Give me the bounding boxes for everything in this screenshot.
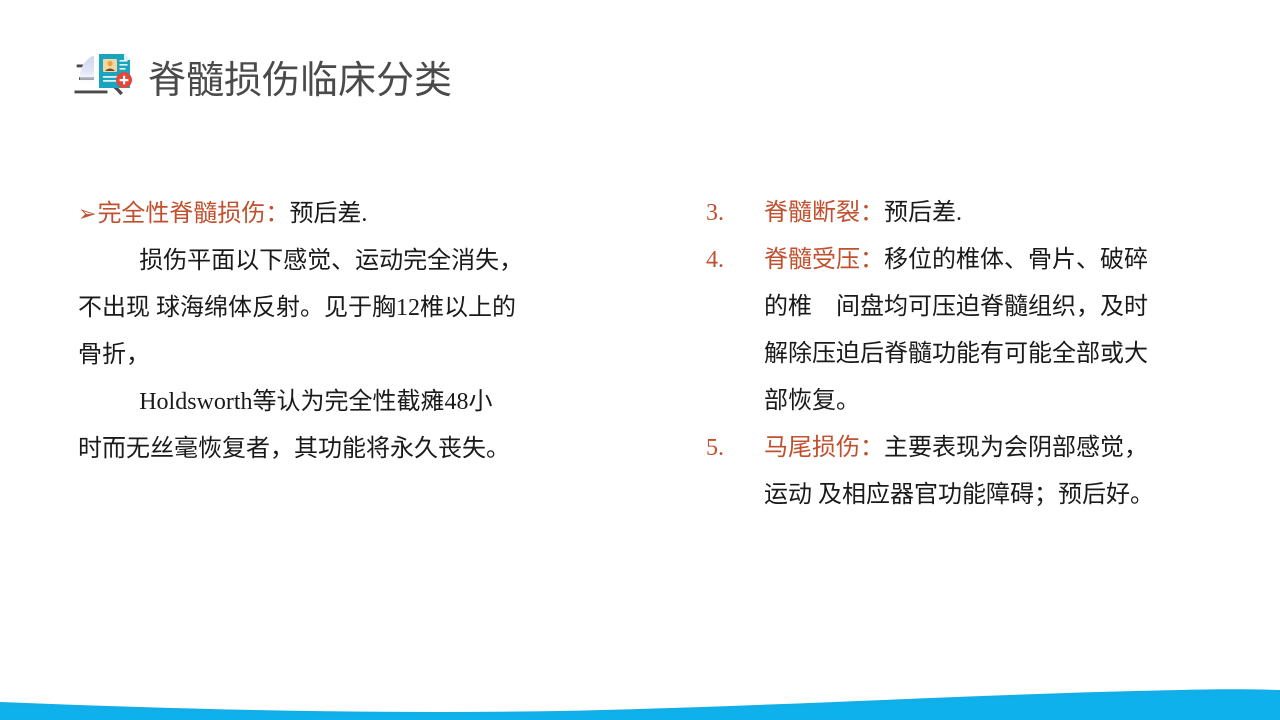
line-text: 预后差.	[884, 200, 962, 226]
left-heading-rest: 预后差.	[289, 201, 367, 227]
line-text: 移位的椎体、骨片、破碎	[884, 247, 1148, 273]
bullet-arrow-icon: ➢	[78, 201, 96, 226]
left-paragraph-1: 损伤平面以下感觉、运动完全消失， 不出现 球海绵体反射。见于胸12椎以上的 骨折…	[78, 238, 608, 379]
text-line: 损伤平面以下感觉、运动完全消失，	[78, 238, 608, 285]
list-item-number: 4.	[706, 237, 764, 284]
list-item-number: 3.	[706, 190, 764, 237]
text-line: 脊髓受压：移位的椎体、骨片、破碎	[764, 237, 1206, 284]
line-text: Holdsworth等认为完全性截瘫48小	[139, 389, 492, 415]
right-content-column: 3. 脊髓断裂：预后差. 4. 脊髓受压：移位的椎体、骨片、破碎 的椎 间盘均可…	[706, 190, 1206, 519]
left-paragraph-2: Holdsworth等认为完全性截瘫48小 时而无丝毫恢复者，其功能将永久丧失。	[78, 379, 608, 473]
line-text: 不出现 球海绵体反射。见于胸12椎以上的	[78, 295, 516, 321]
line-text: 时而无丝毫恢复者，其功能将永久丧失。	[78, 436, 510, 462]
list-item-body: 脊髓断裂：预后差.	[764, 190, 1206, 237]
text-line: Holdsworth等认为完全性截瘫48小	[78, 379, 608, 426]
text-line: 马尾损伤：主要表现为会阴部感觉，	[764, 425, 1206, 472]
text-line: 不出现 球海绵体反射。见于胸12椎以上的	[78, 285, 608, 332]
list-item: 3. 脊髓断裂：预后差.	[706, 190, 1206, 237]
line-text: 主要表现为会阴部感觉，	[884, 435, 1148, 461]
slide-canvas: 三、	[0, 0, 1280, 720]
text-line: 脊髓断裂：预后差.	[764, 190, 1206, 237]
list-item-number: 5.	[706, 425, 764, 472]
text-line: 的椎 间盘均可压迫脊髓组织，及时	[764, 284, 1206, 331]
left-heading-accent: 完全性脊髓损伤：	[97, 201, 289, 227]
text-line: 运动 及相应器官功能障碍；预后好。	[764, 472, 1206, 519]
left-content-column: ➢完全性脊髓损伤：预后差. 损伤平面以下感觉、运动完全消失， 不出现 球海绵体反…	[78, 190, 608, 473]
text-line: 部恢复。	[764, 378, 1206, 425]
list-item: 4. 脊髓受压：移位的椎体、骨片、破碎 的椎 间盘均可压迫脊髓组织，及时 解除压…	[706, 237, 1206, 425]
page-title: 脊髓损伤临床分类	[148, 62, 452, 100]
list-item-accent: 马尾损伤：	[764, 435, 884, 461]
left-heading-line: ➢完全性脊髓损伤：预后差.	[78, 190, 608, 238]
bottom-wave-decoration	[0, 684, 1280, 720]
list-item-body: 马尾损伤：主要表现为会阴部感觉， 运动 及相应器官功能障碍；预后好。	[764, 425, 1206, 519]
line-text: 运动 及相应器官功能障碍；预后好。	[764, 482, 1154, 508]
line-text: 部恢复。	[764, 388, 860, 414]
line-text: 解除压迫后脊髓功能有可能全部或大	[764, 341, 1148, 367]
text-line: 骨折，	[78, 332, 608, 379]
list-item-body: 脊髓受压：移位的椎体、骨片、破碎 的椎 间盘均可压迫脊髓组织，及时 解除压迫后脊…	[764, 237, 1206, 425]
line-text: 的椎 间盘均可压迫脊髓组织，及时	[764, 294, 1148, 320]
line-text: 骨折，	[78, 342, 150, 368]
text-line: 时而无丝毫恢复者，其功能将永久丧失。	[78, 426, 608, 473]
medical-record-icon	[72, 30, 146, 104]
list-item: 5. 马尾损伤：主要表现为会阴部感觉， 运动 及相应器官功能障碍；预后好。	[706, 425, 1206, 519]
line-text: 损伤平面以下感觉、运动完全消失，	[139, 248, 523, 274]
text-line: 解除压迫后脊髓功能有可能全部或大	[764, 331, 1206, 378]
list-item-accent: 脊髓断裂：	[764, 200, 884, 226]
list-item-accent: 脊髓受压：	[764, 247, 884, 273]
